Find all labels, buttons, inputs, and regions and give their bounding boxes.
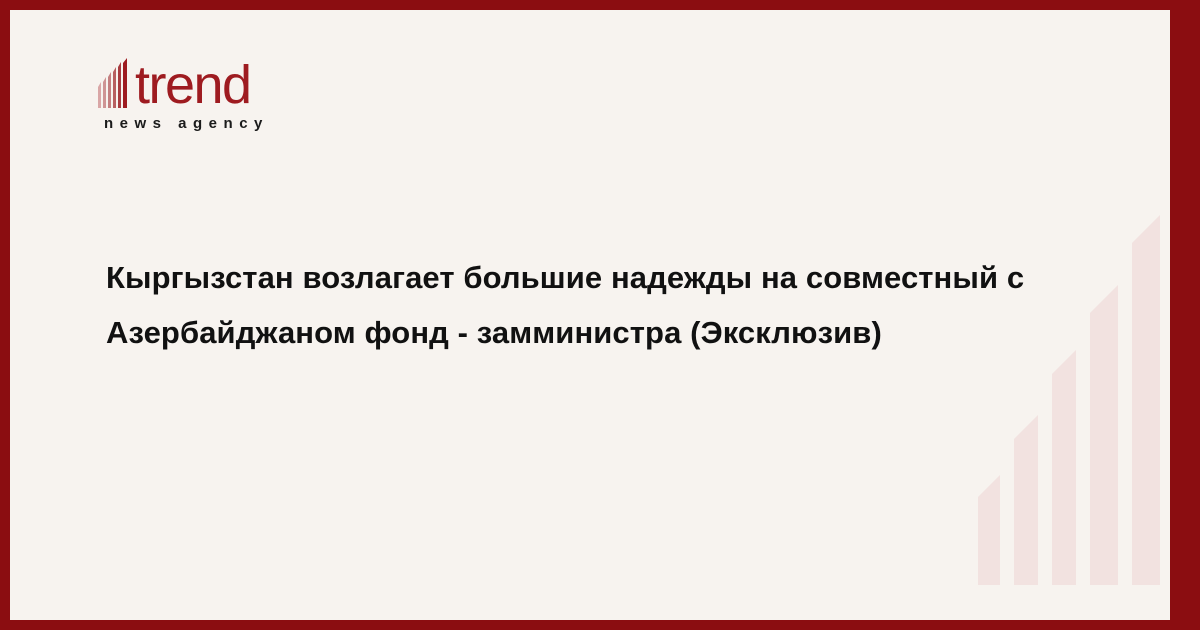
logo-wordmark-row: trend [98,52,398,108]
logo-mark-bar [103,77,106,108]
logo-mark-bar [98,82,101,108]
watermark-bar [1132,215,1160,585]
logo-mark-bar [113,67,116,108]
trend-bar-chart-mark-icon [98,58,134,108]
watermark-bar [978,475,1000,585]
logo-mark-bar [118,62,121,108]
watermark-bar [1014,415,1038,585]
card-content-area: trend news agency Кыргызстан возлагает б… [10,10,1170,620]
article-headline: Кыргызстан возлагает большие надежды на … [106,250,1116,360]
logo-wordmark-text: trend [135,60,251,110]
trend-news-agency-logo: trend news agency [98,52,398,132]
logo-mark-bar [108,72,111,108]
watermark-bar [1052,350,1076,585]
logo-mark-bar [123,58,127,108]
logo-tagline: news agency [104,115,398,132]
social-share-card: trend news agency Кыргызстан возлагает б… [0,0,1200,630]
